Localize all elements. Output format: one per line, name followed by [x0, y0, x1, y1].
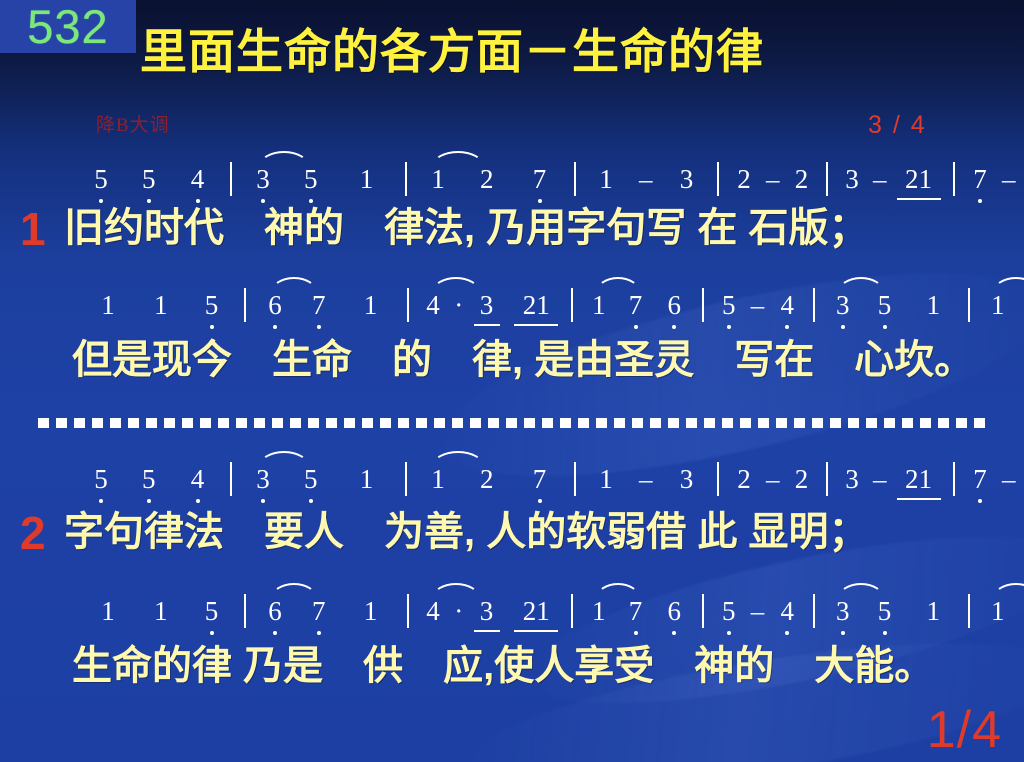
key-signature: 降B大调 — [96, 116, 170, 135]
note-dash: – — [1002, 166, 1016, 193]
notation-row-v2-l2: 1 1 5 6 7 1 4 · 3 21 1 7 6 5 – 4 3 5 1 1 — [0, 594, 1024, 640]
note: 1 — [154, 292, 168, 319]
note: 3 — [845, 166, 859, 193]
barline — [702, 288, 704, 322]
barline — [230, 162, 232, 196]
barline — [953, 462, 955, 496]
verse-number-2: 2 — [20, 510, 46, 556]
barline — [826, 462, 828, 496]
note-dash: – — [766, 166, 780, 193]
note: 1 — [431, 466, 445, 493]
barline — [717, 462, 719, 496]
note: 2 — [480, 466, 494, 493]
note-dash: – — [1002, 466, 1016, 493]
note: 3 — [845, 466, 859, 493]
note: 5 — [94, 166, 108, 193]
beam — [514, 324, 558, 326]
note: 7 — [533, 466, 547, 493]
note: 2 — [905, 466, 919, 493]
barline — [405, 162, 407, 196]
augmentation-dot: · — [454, 598, 463, 625]
beam — [474, 324, 500, 326]
note: 1 — [536, 598, 550, 625]
barline — [813, 594, 815, 628]
notation-row-v2-l1: 5 5 4 3 5 1 1 2 7 1 – 3 2 – 2 3 – 21 7 – — [0, 462, 1024, 508]
note: 1 — [360, 166, 374, 193]
note-dash: – — [766, 466, 780, 493]
note-dash: – — [751, 292, 765, 319]
barline — [702, 594, 704, 628]
note: 2 — [795, 466, 809, 493]
note: 4 — [781, 292, 795, 319]
note: 5 — [722, 598, 736, 625]
beam — [474, 630, 500, 632]
beam — [897, 198, 941, 200]
note: 5 — [94, 466, 108, 493]
barline — [968, 594, 970, 628]
note: 2 — [795, 166, 809, 193]
note: 1 — [154, 598, 168, 625]
note-dash: – — [639, 166, 653, 193]
note: 7 — [312, 598, 326, 625]
barline — [574, 162, 576, 196]
note: 6 — [668, 292, 682, 319]
note: 3 — [680, 466, 694, 493]
time-signature: 3 / 4 — [868, 113, 927, 138]
note: 1 — [360, 466, 374, 493]
beam — [514, 630, 558, 632]
barline — [244, 288, 246, 322]
note: 6 — [268, 598, 282, 625]
augmentation-dot: · — [454, 292, 463, 319]
note: 1 — [431, 166, 445, 193]
note: 7 — [629, 598, 643, 625]
note: 3 — [480, 292, 494, 319]
note: 6 — [268, 292, 282, 319]
note: 1 — [599, 166, 613, 193]
barline — [813, 288, 815, 322]
note: 7 — [629, 292, 643, 319]
note: 7 — [533, 166, 547, 193]
note: 4 — [426, 598, 440, 625]
note: 4 — [191, 466, 205, 493]
note-dash: – — [639, 466, 653, 493]
lyric-v2-l1: 字句律法 要人 为善, 人的软弱借 此 显明； — [64, 510, 1024, 554]
verse-number-1: 1 — [20, 206, 46, 252]
notation-row-v1-l1: 5 5 4 3 5 1 1 2 7 1 – 3 2 – 2 3 – 21 7 – — [0, 162, 1024, 208]
barline — [407, 594, 409, 628]
note: 3 — [836, 292, 850, 319]
barline — [968, 288, 970, 322]
note: 1 — [364, 292, 378, 319]
barline — [244, 594, 246, 628]
note: 1 — [592, 598, 606, 625]
hymn-number-box: 532 — [0, 0, 136, 53]
note: 5 — [142, 166, 156, 193]
note: 5 — [205, 292, 219, 319]
barline — [574, 462, 576, 496]
note: 2 — [905, 166, 919, 193]
barline — [826, 162, 828, 196]
note: 1 — [927, 292, 941, 319]
note: 4 — [781, 598, 795, 625]
note: 4 — [191, 166, 205, 193]
note: 1 — [991, 292, 1005, 319]
note: 2 — [480, 166, 494, 193]
note: 3 — [256, 466, 270, 493]
note: 7 — [973, 166, 987, 193]
note: 1 — [599, 466, 613, 493]
note: 5 — [722, 292, 736, 319]
barline — [230, 462, 232, 496]
barline — [407, 288, 409, 322]
lyric-v1-l1: 旧约时代 神的 律法, 乃用字句写 在 石版； — [64, 206, 1024, 250]
barline — [717, 162, 719, 196]
note: 1 — [592, 292, 606, 319]
notation-row-v1-l2: 1 1 5 6 7 1 4 · 3 21 1 7 6 5 – 4 3 5 1 1 — [0, 288, 1024, 334]
hymn-slide: 532 里面生命的各方面－生命的律 降B大调 3 / 4 5 5 4 3 5 1… — [0, 0, 1024, 762]
note: 2 — [737, 166, 751, 193]
note: 5 — [205, 598, 219, 625]
note-dash: – — [873, 466, 887, 493]
hymn-title: 里面生命的各方面－生命的律 — [140, 26, 940, 78]
note-dash: – — [873, 166, 887, 193]
note: 1 — [919, 466, 933, 493]
note: 3 — [256, 166, 270, 193]
note: 1 — [101, 598, 115, 625]
note: 3 — [836, 598, 850, 625]
page-indicator: 1/4 — [927, 704, 1002, 756]
note: 1 — [101, 292, 115, 319]
lyric-v1-l2: 但是现今 生命 的 律, 是由圣灵 写在 心坎。 — [72, 338, 1024, 382]
note: 1 — [536, 292, 550, 319]
barline — [953, 162, 955, 196]
note: 5 — [142, 466, 156, 493]
note: 7 — [973, 466, 987, 493]
barline — [405, 462, 407, 496]
note: 1 — [927, 598, 941, 625]
barline — [571, 594, 573, 628]
note: 1 — [364, 598, 378, 625]
note: 5 — [878, 292, 892, 319]
note: 5 — [304, 166, 318, 193]
note-dash: – — [751, 598, 765, 625]
hymn-number: 532 — [27, 3, 108, 50]
note: 3 — [480, 598, 494, 625]
note: 6 — [668, 598, 682, 625]
verse-divider — [38, 418, 990, 428]
note: 5 — [878, 598, 892, 625]
note: 4 — [426, 292, 440, 319]
note: 5 — [304, 466, 318, 493]
note: 2 — [523, 598, 537, 625]
note: 1 — [919, 166, 933, 193]
note: 2 — [737, 466, 751, 493]
note: 7 — [312, 292, 326, 319]
barline — [571, 288, 573, 322]
note: 2 — [523, 292, 537, 319]
note: 1 — [991, 598, 1005, 625]
lyric-v2-l2: 生命的律 乃是 供 应,使人享受 神的 大能。 — [72, 644, 1024, 688]
beam — [897, 498, 941, 500]
note: 3 — [680, 166, 694, 193]
